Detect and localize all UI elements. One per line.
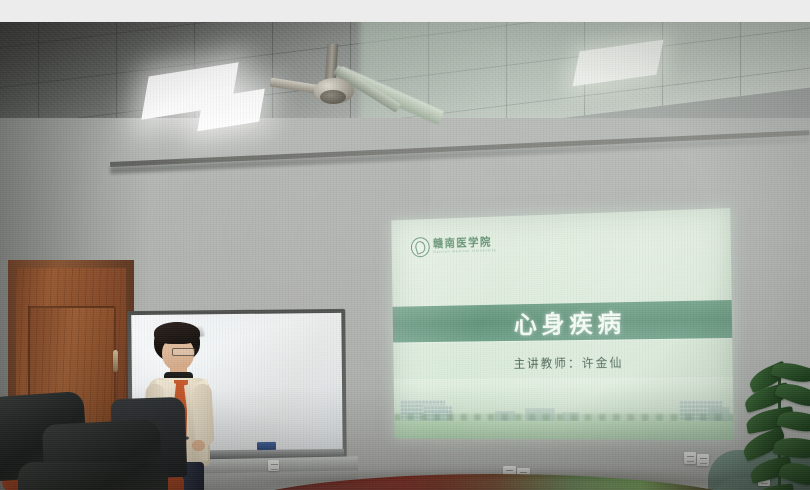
photograph: 赣南医学院 Gannan Medical University 心身疾病 主讲教…	[0, 22, 810, 490]
presenter-arm-right	[192, 384, 214, 447]
door-handle[interactable]	[113, 350, 118, 372]
projection-vignette	[391, 208, 733, 440]
lecture-photo-scene: 赣南医学院 Gannan Medical University 心身疾病 主讲教…	[0, 0, 810, 490]
wall-outlet[interactable]	[697, 454, 709, 466]
eyeglasses-icon	[172, 348, 195, 356]
presenter-hair-fringe	[154, 322, 200, 344]
projected-slide: 赣南医学院 Gannan Medical University 心身疾病 主讲教…	[391, 208, 733, 440]
office-chair-black[interactable]	[18, 462, 168, 490]
plant-leaf	[753, 483, 795, 490]
fan-hub-inner	[320, 90, 346, 104]
presenter-hand-right	[192, 440, 205, 451]
wall-outlet[interactable]	[684, 452, 696, 464]
letterbox-bar-top	[0, 0, 810, 22]
whiteboard-eraser[interactable]	[257, 442, 276, 450]
ceiling-fan	[300, 44, 480, 134]
potted-plant	[744, 362, 810, 490]
